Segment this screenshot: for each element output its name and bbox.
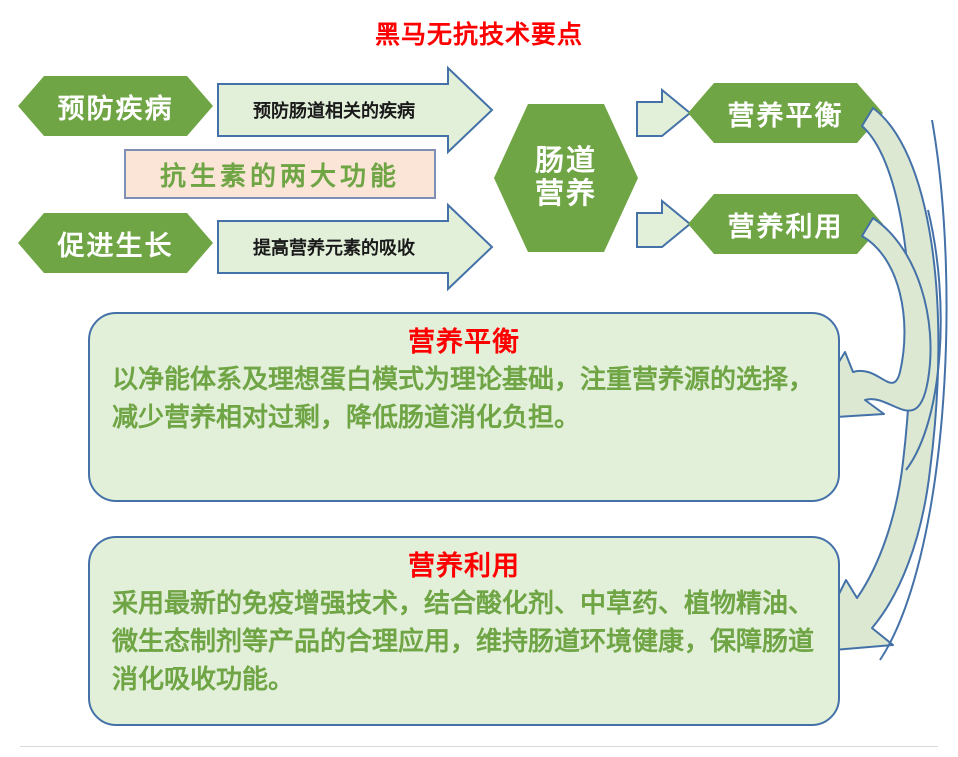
slide-canvas: 黑马无抗技术要点 预防疾病 促进生长 预防肠道相关的疾病 [0, 0, 958, 757]
panel-nutrition-balance-heading: 营养平衡 [112, 324, 816, 360]
chevron-nutrition-balance[interactable] [688, 83, 883, 143]
note-box-antibiotic-functions[interactable] [125, 150, 435, 198]
chevron-promote-growth[interactable] [18, 213, 213, 273]
hexagon-intestinal-nutrition[interactable] [494, 104, 638, 252]
arrow-box-prevent-intestinal-disease[interactable] [218, 68, 492, 152]
panel-nutrition-utilization-heading: 营养利用 [112, 548, 816, 584]
hub-to-balance-arrow-icon [637, 90, 690, 136]
bottom-divider [20, 746, 938, 747]
chevron-nutrition-utilization[interactable] [688, 194, 883, 254]
panel-nutrition-utilization-body: 采用最新的免疫增强技术，结合酸化剂、中草药、植物精油、微生态制剂等产品的合理应用… [112, 584, 816, 698]
panel-nutrition-balance[interactable]: 营养平衡 以净能体系及理想蛋白模式为理论基础，注重营养源的选择，减少营养相对过剩… [88, 312, 840, 502]
hub-to-utilization-arrow-icon [637, 201, 690, 247]
panel-nutrition-utilization[interactable]: 营养利用 采用最新的免疫增强技术，结合酸化剂、中草药、植物精油、微生态制剂等产品… [88, 536, 840, 726]
panel-nutrition-balance-body: 以净能体系及理想蛋白模式为理论基础，注重营养源的选择，减少营养相对过剩，降低肠道… [112, 360, 816, 436]
chevron-prevent-disease[interactable] [18, 76, 213, 136]
arrow-box-improve-nutrient-absorption[interactable] [218, 205, 492, 289]
